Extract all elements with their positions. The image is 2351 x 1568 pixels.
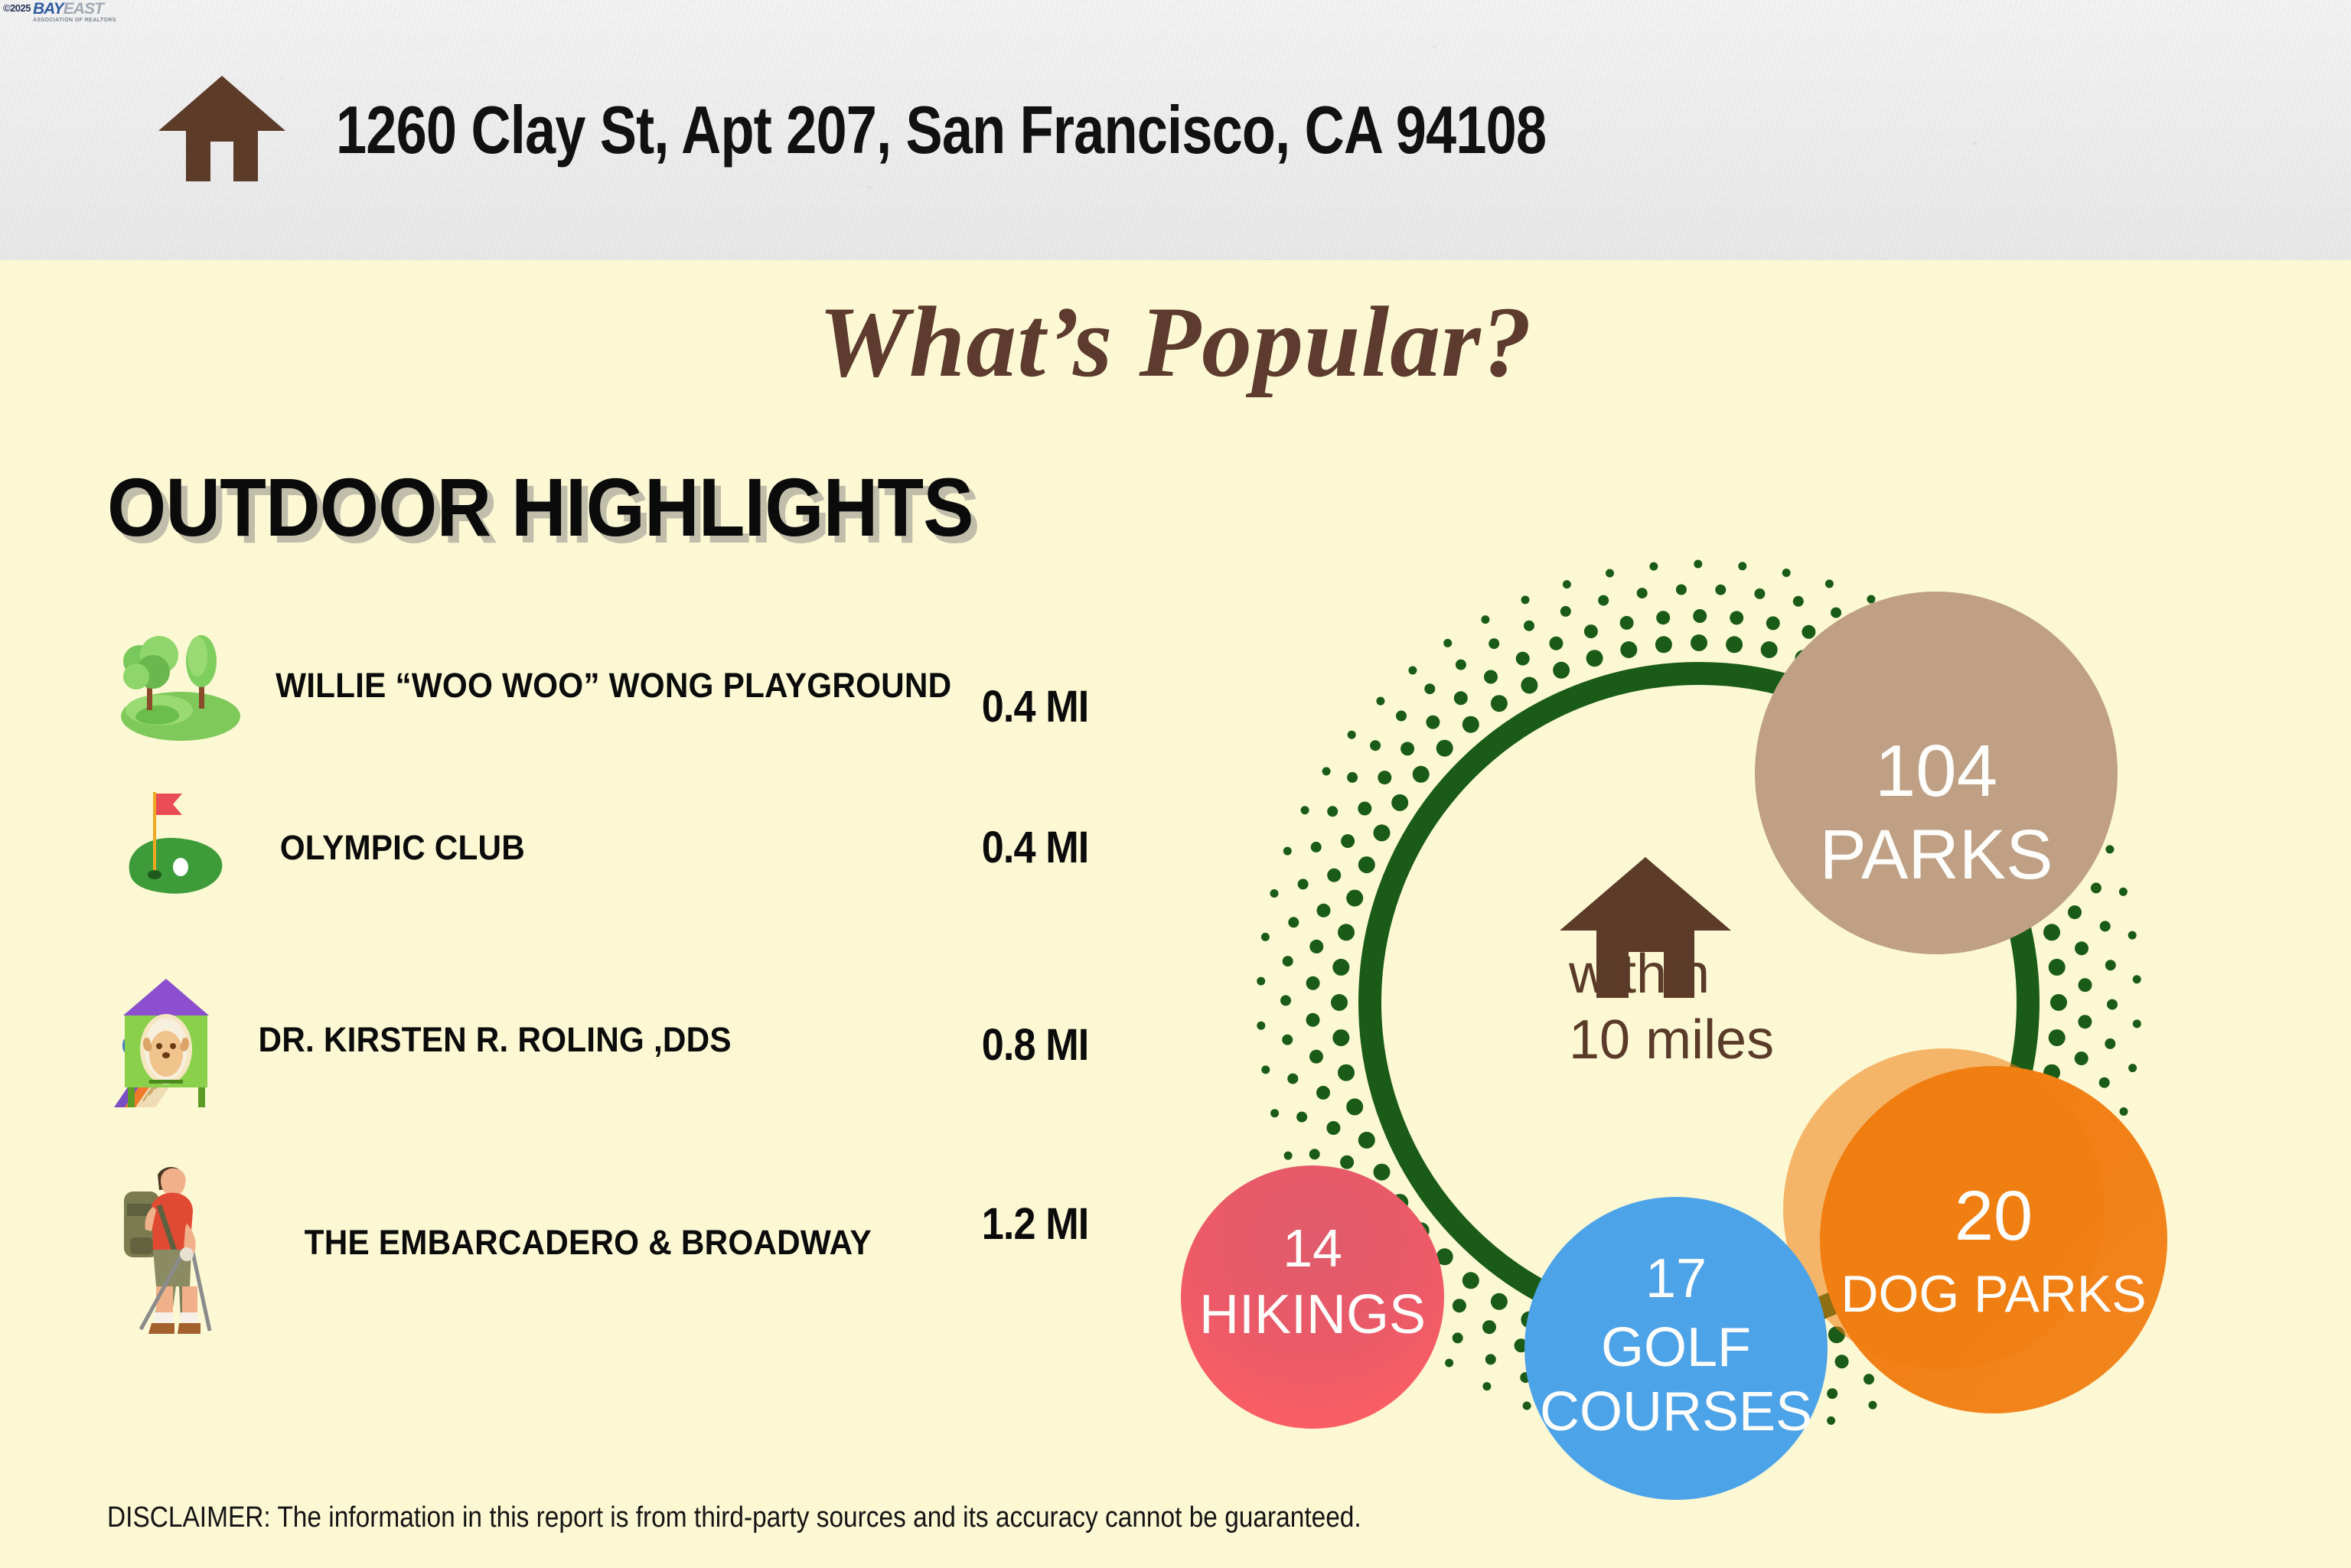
hikings-bubble: 14 HIKINGS bbox=[1181, 1165, 1444, 1429]
list-item[interactable]: THE EMBARCADERO & BROADWAY 1.2 MI bbox=[107, 1151, 1179, 1335]
hikings-bubble-label: HIKINGS bbox=[1199, 1284, 1426, 1345]
list-item[interactable]: OLYMPIC CLUB 0.4 MI bbox=[107, 767, 1179, 929]
house-icon bbox=[157, 71, 287, 190]
parks-bubble-label: PARKS bbox=[1819, 816, 2053, 894]
outdoor-highlights-heading: OUTDOOR HIGHLIGHTS bbox=[107, 459, 973, 555]
center-caption-line2: 10 miles bbox=[1569, 1007, 1906, 1073]
list-item-distance: 0.4 MI bbox=[982, 681, 1089, 732]
parks-bubble: 104 PARKS bbox=[1755, 592, 2118, 954]
golf-courses-bubble-label-1: GOLF bbox=[1601, 1317, 1751, 1378]
watermark-copyright: ©2025 bbox=[3, 2, 31, 15]
watermark-logo: BAYEAST ASSOCIATION OF REALTORS bbox=[33, 2, 116, 24]
outdoor-highlights-list: WILLIE “WOO WOO” WONG PLAYGROUND 0.4 MI … bbox=[107, 605, 1179, 1335]
list-item-distance: 0.8 MI bbox=[982, 1019, 1089, 1071]
golf-green-flag-icon bbox=[107, 783, 253, 913]
park-trees-icon bbox=[107, 621, 253, 751]
parks-bubble-value: 104 bbox=[1875, 730, 1997, 812]
watermark-logo-subtitle: ASSOCIATION OF REALTORS bbox=[33, 17, 116, 24]
list-item[interactable]: DR. KIRSTEN R. ROLING ,DDS 0.8 MI bbox=[107, 929, 1179, 1151]
page-title: 1260 Clay St, Apt 207, San Francisco, CA… bbox=[336, 91, 1546, 169]
golf-courses-bubble: 17 GOLF COURSES bbox=[1524, 1197, 1828, 1500]
hiker-icon bbox=[107, 1178, 253, 1308]
list-item-distance: 1.2 MI bbox=[982, 1198, 1089, 1250]
bayeast-watermark: ©2025 BAYEAST ASSOCIATION OF REALTORS bbox=[3, 2, 116, 24]
golf-courses-bubble-value: 17 bbox=[1645, 1248, 1707, 1309]
whats-popular-title: What’s Popular? bbox=[0, 283, 2351, 400]
center-caption-line1: within bbox=[1569, 941, 1906, 1007]
header-banner: ©2025 BAYEAST ASSOCIATION OF REALTORS 12… bbox=[0, 0, 2351, 260]
list-item[interactable]: WILLIE “WOO WOO” WONG PLAYGROUND 0.4 MI bbox=[107, 605, 1179, 767]
dog-parks-bubble-label: DOG PARKS bbox=[1841, 1265, 2146, 1323]
dog-parks-bubble-value: 20 bbox=[1955, 1177, 2033, 1255]
hikings-bubble-value: 14 bbox=[1283, 1218, 1342, 1278]
watermark-logo-bay: BAY bbox=[33, 2, 64, 17]
dog-park-icon bbox=[107, 975, 253, 1105]
watermark-logo-east: EAST bbox=[64, 2, 103, 17]
golf-courses-bubble-label-2: COURSES bbox=[1540, 1381, 1812, 1442]
list-item-distance: 0.4 MI bbox=[982, 822, 1089, 873]
disclaimer-text: DISCLAIMER: The information in this repo… bbox=[107, 1501, 1361, 1534]
center-caption: within 10 miles bbox=[1569, 941, 1906, 1073]
